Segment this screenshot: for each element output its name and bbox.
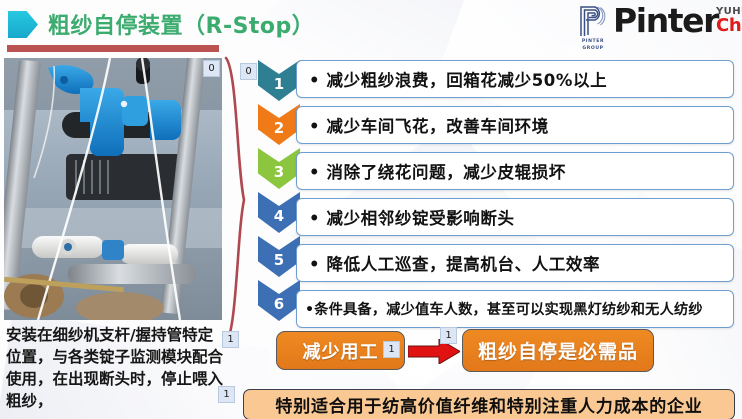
page-title: 粗纱自停装置（R-Stop） xyxy=(48,8,314,40)
product-photo xyxy=(4,58,222,320)
annotation-badge[interactable]: 1 xyxy=(222,331,239,348)
benefit-row: • 减少车间飞花，改善车间环境 xyxy=(296,106,734,144)
pinter-logo: PINTER GROUP Pinter YUHUA China xyxy=(577,4,742,52)
benefit-text: •条件具备，减少值车人数，甚至可以实现黑灯纺纱和无人纺纱 xyxy=(297,299,703,319)
benefit-chevron-column: 123456 xyxy=(258,60,300,324)
title-underline-rule xyxy=(7,45,219,52)
benefit-chevron-5: 5 xyxy=(258,236,300,277)
benefit-row: • 消除了绕花问题，减少皮辊损坏 xyxy=(296,152,734,190)
suitability-bar: 特别适合用于纺高价值纤维和特别注重人力成本的企业 xyxy=(243,389,735,419)
benefit-row: • 减少相邻纱锭受影响断头 xyxy=(296,198,734,236)
pinter-p-mark-icon: PINTER GROUP xyxy=(577,4,609,52)
benefit-chevron-number: 1 xyxy=(274,77,284,101)
annotation-badge[interactable]: 1 xyxy=(218,386,235,403)
benefit-chevron-number: 5 xyxy=(274,253,284,277)
slide-root: 粗纱自停装置（R-Stop） PINTER GROUP Pinter YU xyxy=(0,0,742,419)
benefit-chevron-4: 4 xyxy=(258,192,300,233)
logo-mark-line1: PINTER xyxy=(582,39,604,45)
logo-mark-line2: GROUP xyxy=(582,46,603,52)
annotation-badge[interactable]: 1 xyxy=(440,327,457,344)
benefit-rows: • 减少粗纱浪费，回箱花减少50%以上• 减少车间飞花，改善车间环境• 消除了绕… xyxy=(296,60,734,336)
benefit-chevron-number: 6 xyxy=(274,297,284,321)
annotation-badge[interactable]: 1 xyxy=(383,341,400,358)
logo-china-text: China xyxy=(716,17,742,35)
annotation-badge[interactable]: 0 xyxy=(240,63,257,80)
benefit-chevron-number: 4 xyxy=(274,209,284,233)
benefit-text: • 减少粗纱浪费，回箱花减少50%以上 xyxy=(297,67,607,91)
benefit-text: • 降低人工巡查，提高机台、人工效率 xyxy=(297,251,600,275)
benefit-chevron-6: 6 xyxy=(258,280,300,321)
benefit-chevron-3: 3 xyxy=(258,148,300,189)
annotation-badge[interactable]: 0 xyxy=(203,60,220,77)
benefit-text: • 减少相邻纱锭受影响断头 xyxy=(297,205,515,229)
benefit-chevron-2: 2 xyxy=(258,104,300,145)
logo-brand-name: Pinter xyxy=(613,4,718,37)
photo-caption: 安装在细纱机支杆/握持管特定位置，与各类锭子监测模块配合使用，在出现断头时，停止… xyxy=(6,324,228,412)
benefit-row: • 减少粗纱浪费，回箱花减少50%以上 xyxy=(296,60,734,98)
benefit-text: • 消除了绕花问题，减少皮辊损坏 xyxy=(297,159,566,183)
benefit-text: • 减少车间飞花，改善车间环境 xyxy=(297,113,549,137)
benefit-row: •条件具备，减少值车人数，甚至可以实现黑灯纺纱和无人纺纱 xyxy=(296,290,734,328)
benefit-row: • 降低人工巡查，提高机台、人工效率 xyxy=(296,244,734,282)
red-curly-brace xyxy=(224,56,246,346)
benefit-chevron-1: 1 xyxy=(258,60,300,101)
roving-stop-necessary-pill[interactable]: 粗纱自停是必需品 xyxy=(462,329,654,372)
benefit-chevron-number: 2 xyxy=(274,121,284,145)
benefit-chevron-number: 3 xyxy=(274,165,284,189)
